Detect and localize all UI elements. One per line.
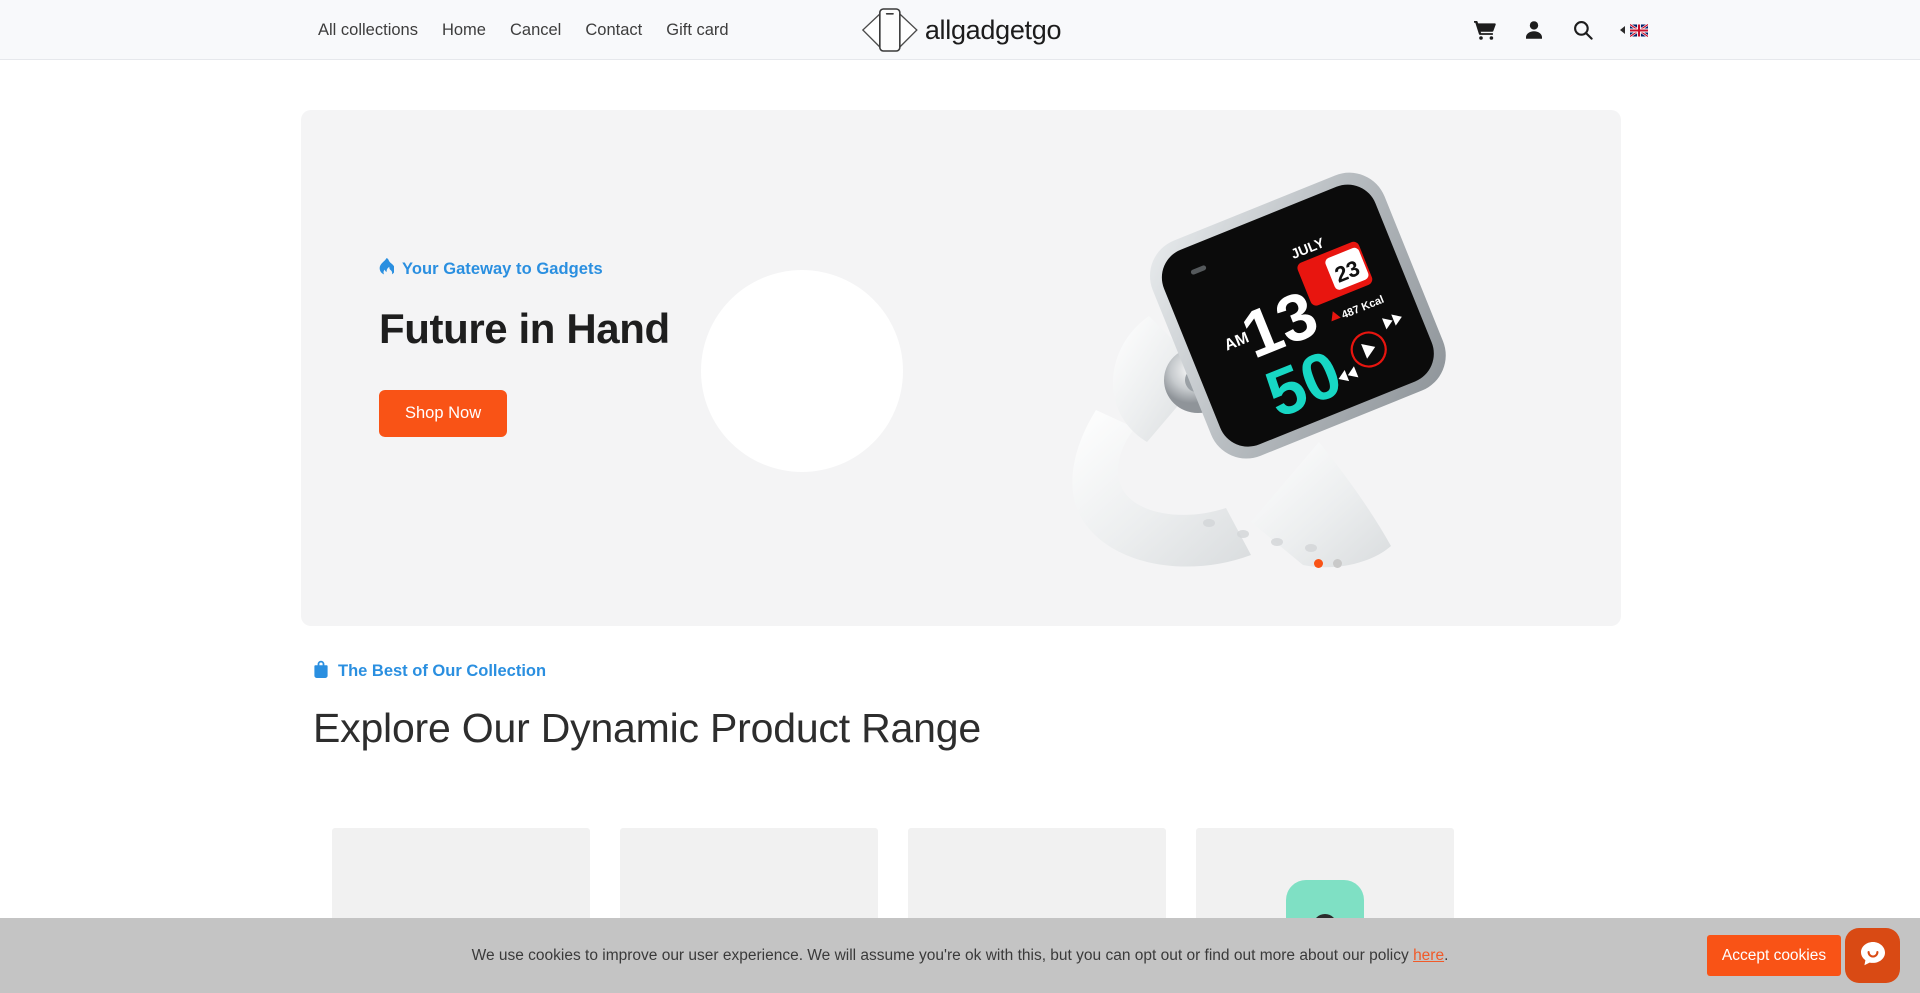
search-icon[interactable] — [1571, 18, 1595, 42]
cookie-message: We use cookies to improve our user exper… — [472, 948, 1449, 964]
primary-navigation: All collections Home Cancel Contact Gift… — [318, 0, 729, 60]
accept-cookies-button[interactable]: Accept cookies — [1707, 935, 1841, 976]
phone-envelope-logo-icon — [859, 6, 921, 54]
nav-cancel[interactable]: Cancel — [510, 22, 561, 39]
chat-widget-button[interactable] — [1845, 928, 1900, 983]
cookie-message-part2: . — [1444, 947, 1448, 964]
chevron-left-icon — [1620, 26, 1625, 34]
chat-bubble-smile-icon — [1858, 939, 1888, 972]
shopping-cart-icon[interactable] — [1473, 18, 1497, 42]
collection-title: Explore Our Dynamic Product Range — [313, 705, 1613, 752]
user-account-icon[interactable] — [1522, 18, 1546, 42]
collection-eyebrow: The Best of Our Collection — [313, 660, 1613, 683]
nav-gift-card[interactable]: Gift card — [666, 22, 728, 39]
header-actions — [1473, 0, 1648, 60]
shopping-bag-icon — [313, 660, 329, 683]
hero-copy: Your Gateway to Gadgets Future in Hand S… — [379, 258, 899, 437]
nav-contact[interactable]: Contact — [585, 22, 642, 39]
site-header: All collections Home Cancel Contact Gift… — [0, 0, 1920, 60]
carousel-dot-2[interactable] — [1333, 559, 1342, 568]
hero-eyebrow-text: Your Gateway to Gadgets — [402, 261, 603, 278]
collection-section: The Best of Our Collection Explore Our D… — [313, 660, 1613, 752]
hero-eyebrow: Your Gateway to Gadgets — [379, 258, 899, 280]
cookie-policy-link[interactable]: here — [1413, 947, 1444, 964]
collection-eyebrow-text: The Best of Our Collection — [338, 663, 546, 680]
uk-flag-icon — [1630, 24, 1648, 37]
hero-product-image: AM 13 50 JULY 23 487 Kcal — [921, 110, 1621, 626]
hero-title: Future in Hand — [379, 306, 899, 352]
nav-all-collections[interactable]: All collections — [318, 22, 418, 39]
hero-banner: Your Gateway to Gadgets Future in Hand S… — [301, 110, 1621, 626]
brand-logo-link[interactable]: allgadgetgo — [859, 0, 1061, 60]
shop-now-button[interactable]: Shop Now — [379, 390, 507, 437]
flame-icon — [379, 258, 394, 280]
language-switcher[interactable] — [1620, 24, 1648, 37]
hero-carousel-dots — [1314, 559, 1342, 568]
carousel-dot-1[interactable] — [1314, 559, 1323, 568]
cookie-consent-banner: We use cookies to improve our user exper… — [0, 918, 1920, 993]
nav-home[interactable]: Home — [442, 22, 486, 39]
brand-name: allgadgetgo — [925, 17, 1061, 44]
cookie-message-part1: We use cookies to improve our user exper… — [472, 947, 1413, 964]
